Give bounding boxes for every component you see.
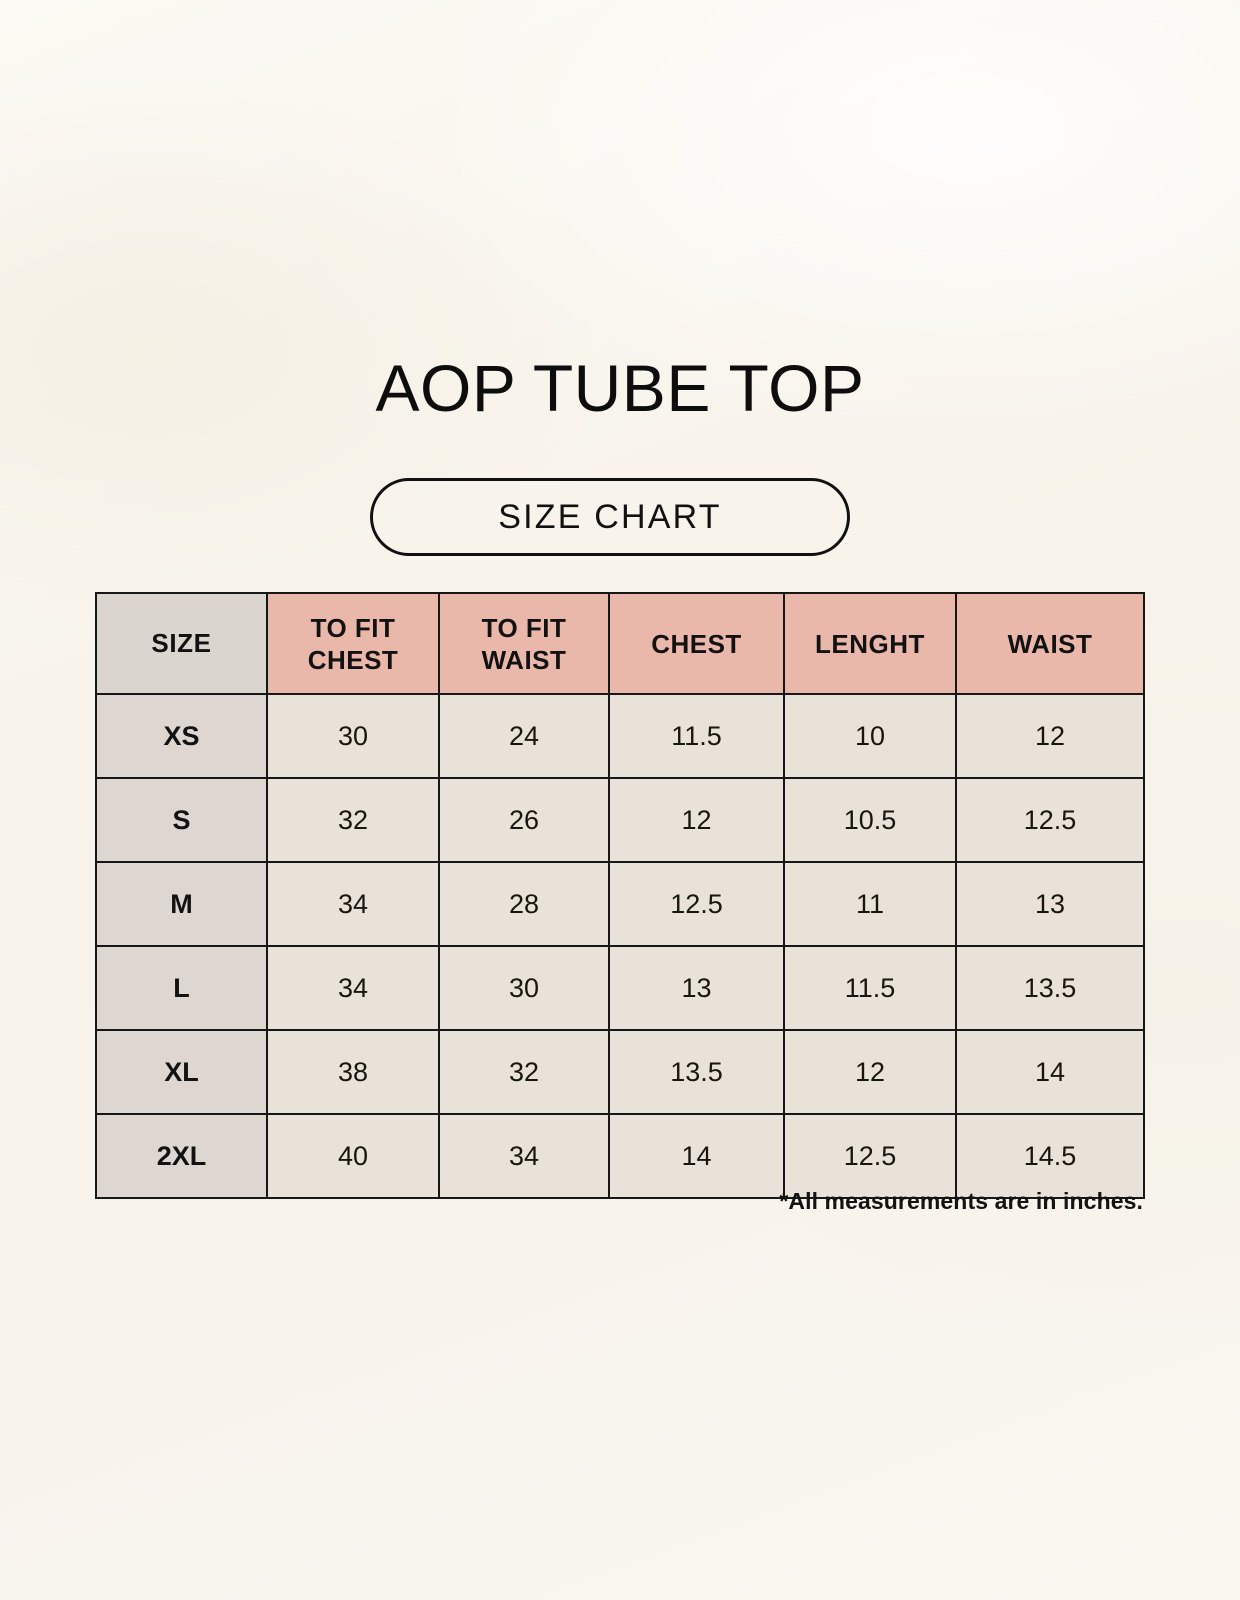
cell-to-fit-waist: 28 (439, 862, 609, 946)
cell-to-fit-chest: 38 (267, 1030, 439, 1114)
cell-to-fit-waist: 34 (439, 1114, 609, 1198)
cell-to-fit-waist: 32 (439, 1030, 609, 1114)
cell-lenght: 11 (784, 862, 956, 946)
table-row: S 32 26 12 10.5 12.5 (96, 778, 1144, 862)
column-header-waist: WAIST (956, 593, 1144, 694)
cell-to-fit-waist: 30 (439, 946, 609, 1030)
cell-chest: 13 (609, 946, 784, 1030)
size-chart-table: SIZE TO FIT CHEST TO FIT WAIST CHEST LEN… (95, 592, 1145, 1199)
cell-chest: 14 (609, 1114, 784, 1198)
cell-size: S (96, 778, 267, 862)
cell-lenght: 12 (784, 1030, 956, 1114)
cell-chest: 13.5 (609, 1030, 784, 1114)
column-header-to-fit-chest-line2: CHEST (308, 645, 399, 675)
cell-waist: 13.5 (956, 946, 1144, 1030)
cell-chest: 12 (609, 778, 784, 862)
cell-waist: 12 (956, 694, 1144, 778)
cell-chest: 12.5 (609, 862, 784, 946)
cell-size: 2XL (96, 1114, 267, 1198)
cell-waist: 12.5 (956, 778, 1144, 862)
cell-chest: 11.5 (609, 694, 784, 778)
cell-waist: 14 (956, 1030, 1144, 1114)
table-row: XL 38 32 13.5 12 14 (96, 1030, 1144, 1114)
column-header-to-fit-waist-line2: WAIST (482, 645, 567, 675)
cell-lenght: 10.5 (784, 778, 956, 862)
cell-to-fit-chest: 32 (267, 778, 439, 862)
cell-to-fit-chest: 34 (267, 862, 439, 946)
column-header-to-fit-waist: TO FIT WAIST (439, 593, 609, 694)
cell-size: L (96, 946, 267, 1030)
table-header-row: SIZE TO FIT CHEST TO FIT WAIST CHEST LEN… (96, 593, 1144, 694)
size-chart-badge: SIZE CHART (370, 478, 850, 556)
table-row: 2XL 40 34 14 12.5 14.5 (96, 1114, 1144, 1198)
cell-waist: 14.5 (956, 1114, 1144, 1198)
cell-size: XL (96, 1030, 267, 1114)
column-header-chest: CHEST (609, 593, 784, 694)
size-chart-badge-label: SIZE CHART (498, 498, 722, 537)
cell-waist: 13 (956, 862, 1144, 946)
cell-lenght: 11.5 (784, 946, 956, 1030)
column-header-to-fit-waist-line1: TO FIT (482, 613, 567, 643)
table-header: SIZE TO FIT CHEST TO FIT WAIST CHEST LEN… (96, 593, 1144, 694)
cell-lenght: 12.5 (784, 1114, 956, 1198)
cell-to-fit-waist: 24 (439, 694, 609, 778)
cell-to-fit-chest: 40 (267, 1114, 439, 1198)
page-title: AOP TUBE TOP (0, 352, 1240, 424)
table-body: XS 30 24 11.5 10 12 S 32 26 12 10.5 12.5… (96, 694, 1144, 1198)
table-row: XS 30 24 11.5 10 12 (96, 694, 1144, 778)
cell-to-fit-waist: 26 (439, 778, 609, 862)
cell-to-fit-chest: 30 (267, 694, 439, 778)
cell-lenght: 10 (784, 694, 956, 778)
column-header-size: SIZE (96, 593, 267, 694)
cell-size: XS (96, 694, 267, 778)
cell-size: M (96, 862, 267, 946)
cell-to-fit-chest: 34 (267, 946, 439, 1030)
table-row: L 34 30 13 11.5 13.5 (96, 946, 1144, 1030)
column-header-lenght: LENGHT (784, 593, 956, 694)
size-chart-table-container: SIZE TO FIT CHEST TO FIT WAIST CHEST LEN… (95, 592, 1143, 1199)
column-header-to-fit-chest-line1: TO FIT (311, 613, 396, 643)
table-row: M 34 28 12.5 11 13 (96, 862, 1144, 946)
size-chart-sheet: AOP TUBE TOP SIZE CHART SIZE TO FIT CHES… (0, 0, 1240, 1600)
measurement-footnote: *All measurements are in inches. (779, 1188, 1143, 1215)
column-header-to-fit-chest: TO FIT CHEST (267, 593, 439, 694)
